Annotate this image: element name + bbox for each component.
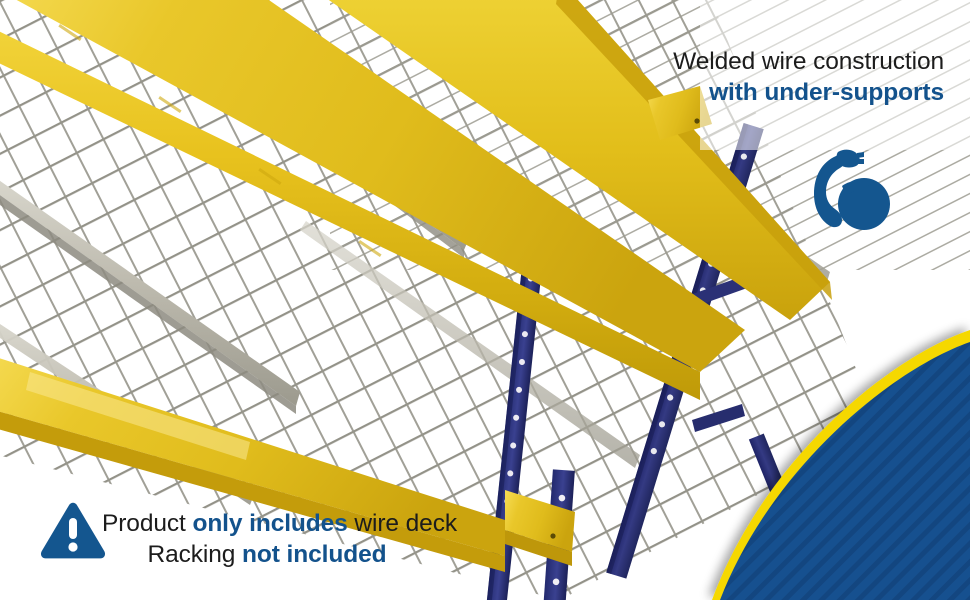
bottom-line1-pre: Product [102, 510, 192, 537]
bottom-line2-bold: not included [242, 541, 386, 568]
callout-welded-wire: Welded wire construction with under-supp… [673, 46, 944, 108]
bottom-line1-post: wire deck [348, 510, 457, 537]
flexed-bicep-icon [802, 146, 898, 238]
callout-not-included: Product only includes wire deck Racking … [36, 508, 457, 570]
product-feature-banner: Welded wire construction with under-supp… [0, 0, 970, 600]
bottom-line2-pre: Racking [148, 541, 243, 568]
callout-top-line2: with under-supports [673, 77, 944, 108]
callout-bottom-line1: Product only includes wire deck [102, 508, 457, 539]
callout-bottom-line2: Racking not included [102, 539, 432, 570]
callout-top-line1: Welded wire construction [673, 46, 944, 77]
bottom-line1-bold: only includes [192, 510, 347, 537]
